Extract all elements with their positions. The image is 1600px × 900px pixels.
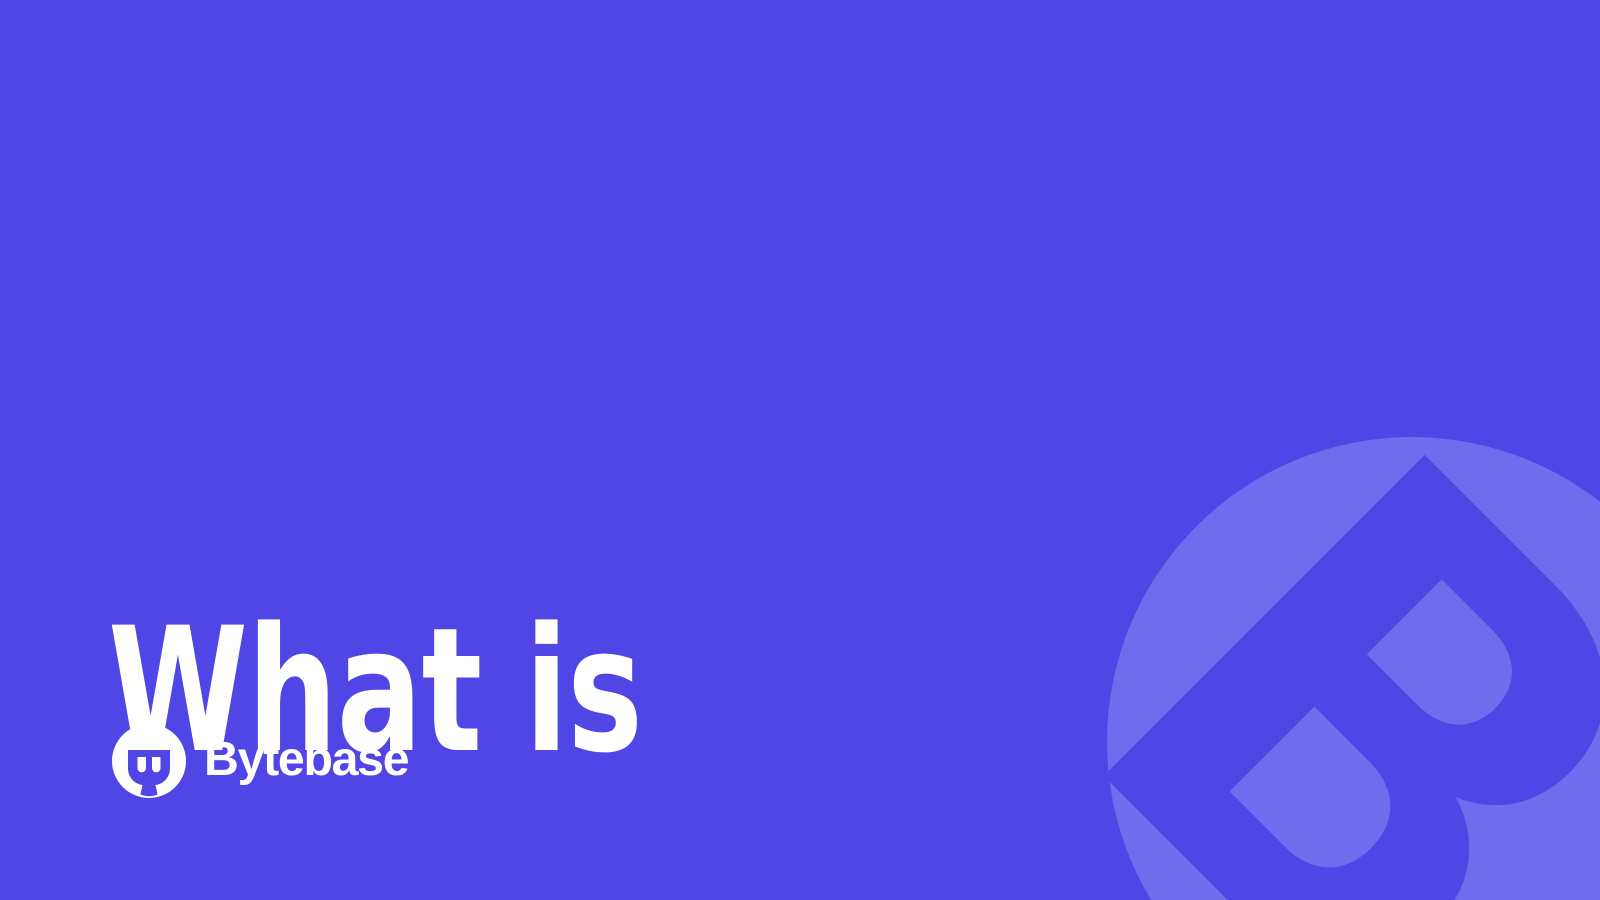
- brand-logo-lockup: Bytebase: [112, 724, 463, 798]
- bytebase-logo-mark-icon: [112, 724, 186, 798]
- brand-wordmark-svg: Bytebase: [204, 736, 463, 786]
- title-card-slide: What is Production Database Bytebase: [0, 0, 1600, 900]
- brand-wordmark: Bytebase: [204, 736, 463, 786]
- brand-wordmark-text: Bytebase: [204, 736, 409, 786]
- page-title: What is Production Database: [108, 223, 1207, 900]
